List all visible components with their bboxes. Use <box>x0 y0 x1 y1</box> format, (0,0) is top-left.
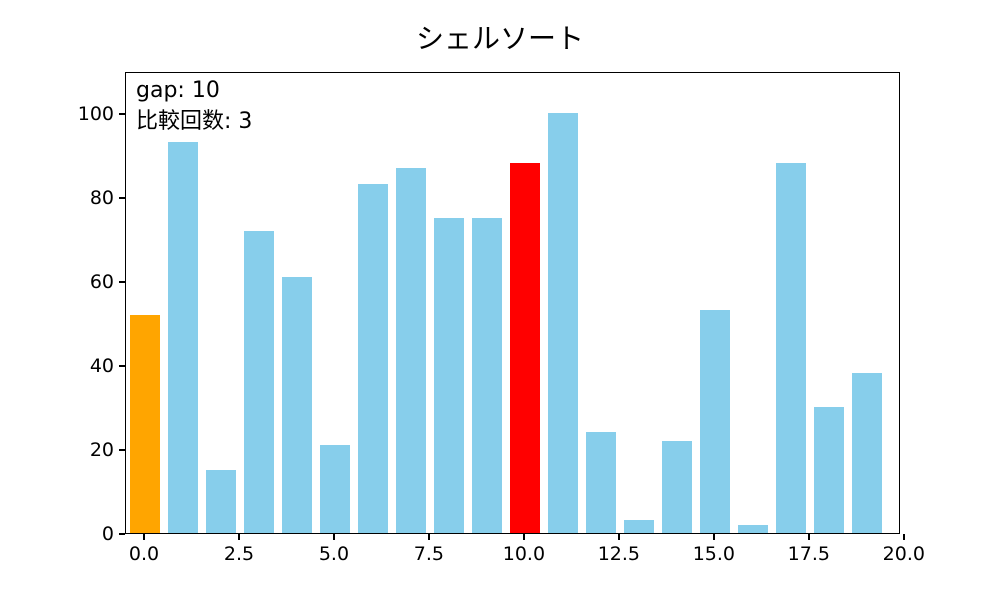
x-tick-label: 20.0 <box>883 543 925 565</box>
bar-11 <box>548 113 578 533</box>
y-tick-label: 60 <box>90 271 114 293</box>
x-tick-mark <box>523 534 525 540</box>
bar-17 <box>776 163 806 533</box>
bar-2 <box>206 470 236 533</box>
x-tick-label: 0.0 <box>129 543 159 565</box>
bar-18 <box>814 407 844 533</box>
x-tick-label: 2.5 <box>224 543 254 565</box>
page-title: シェルソート <box>0 22 1000 56</box>
bar-14 <box>662 441 692 533</box>
y-tick-label: 0 <box>102 523 114 545</box>
x-tick-label: 17.5 <box>788 543 830 565</box>
y-tick-label: 80 <box>90 187 114 209</box>
bar-10 <box>510 163 540 533</box>
x-tick-label: 15.0 <box>693 543 735 565</box>
x-tick-mark <box>808 534 810 540</box>
annotation-gap: gap: 10 <box>136 75 252 106</box>
x-tick-mark <box>143 534 145 540</box>
y-axis: 020406080100 <box>0 72 125 534</box>
bar-7 <box>396 168 426 533</box>
bar-15 <box>700 310 730 533</box>
annotation-comparison-count: 比較回数: 3 <box>136 106 252 137</box>
bars-layer <box>126 73 899 533</box>
bar-19 <box>852 373 882 533</box>
x-tick-mark <box>903 534 905 540</box>
y-tick-label: 40 <box>90 355 114 377</box>
x-tick-mark <box>618 534 620 540</box>
bar-1 <box>168 142 198 533</box>
bar-3 <box>244 231 274 533</box>
x-tick-label: 10.0 <box>503 543 545 565</box>
x-tick-label: 7.5 <box>414 543 444 565</box>
x-tick-label: 5.0 <box>319 543 349 565</box>
figure-canvas: シェルソート 020406080100 gap: 10 比較回数: 3 0.02… <box>0 0 1000 600</box>
bar-0 <box>130 315 160 533</box>
x-axis: 0.02.55.07.510.012.515.017.520.0 <box>125 534 900 579</box>
x-tick-label: 12.5 <box>598 543 640 565</box>
x-tick-mark <box>428 534 430 540</box>
bar-4 <box>282 277 312 533</box>
y-tick-label: 100 <box>78 103 114 125</box>
bar-16 <box>738 525 768 533</box>
bar-9 <box>472 218 502 533</box>
bar-8 <box>434 218 464 533</box>
annotation-block: gap: 10 比較回数: 3 <box>136 75 252 137</box>
plot-area: gap: 10 比較回数: 3 <box>125 72 900 534</box>
bar-6 <box>358 184 388 533</box>
x-tick-mark <box>333 534 335 540</box>
bar-13 <box>624 520 654 533</box>
y-tick-label: 20 <box>90 439 114 461</box>
x-tick-mark <box>713 534 715 540</box>
x-tick-mark <box>238 534 240 540</box>
bar-12 <box>586 432 616 533</box>
bar-5 <box>320 445 350 533</box>
